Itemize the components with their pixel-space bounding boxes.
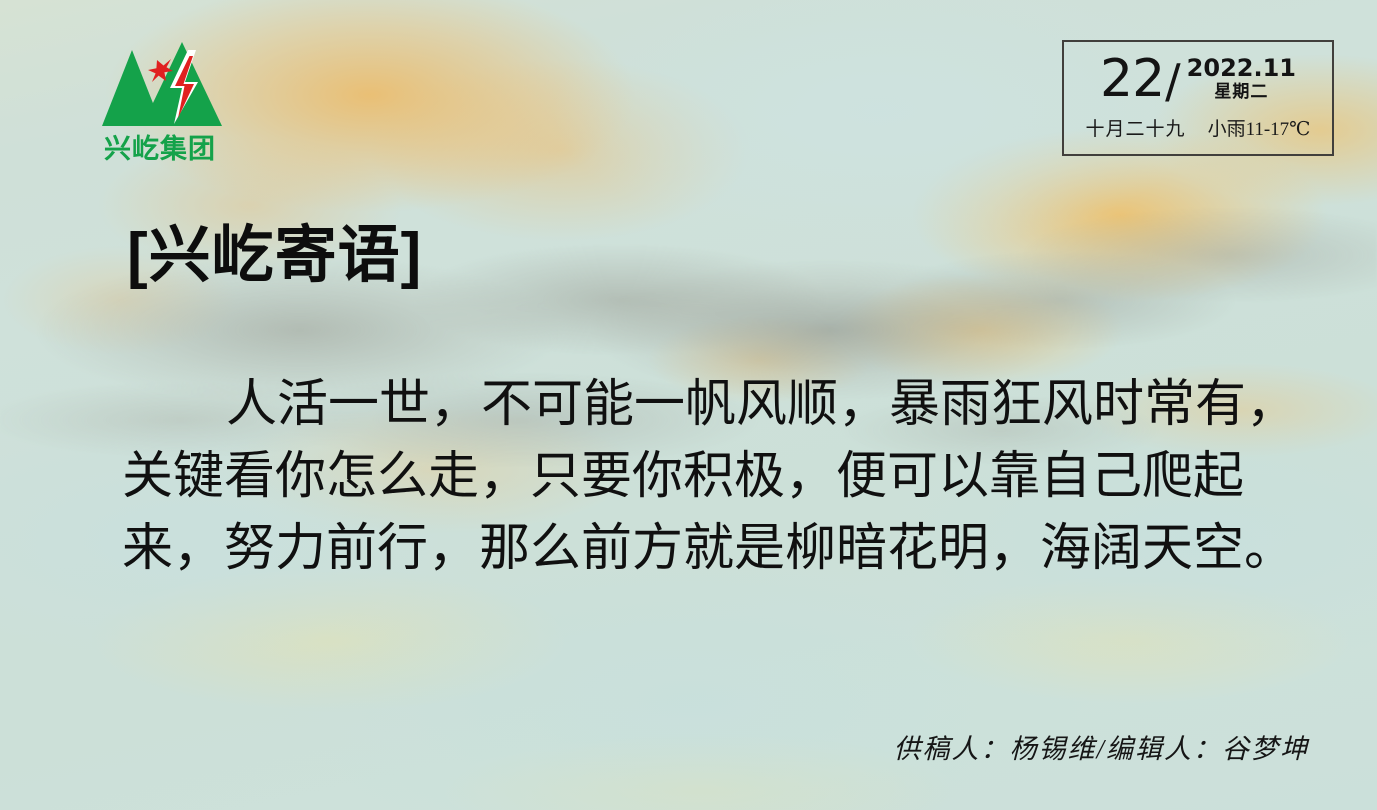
logo-wordmark: 兴屹集团 — [96, 135, 224, 163]
year-month: 2022.11 — [1187, 56, 1296, 81]
company-logo: 兴屹集团 — [96, 36, 224, 166]
date-card-top-row: 22 / 2022.11 星期二 — [1074, 48, 1322, 110]
date-card-right-stack: 2022.11 星期二 — [1187, 56, 1296, 102]
body-paragraph: 人活一世，不可能一帆风顺，暴雨狂风时常有， 关键看你怎么走，只要你积极，便可以靠… — [122, 368, 1282, 584]
body-line: 来，努力前行，那么前方就是柳暗花明，海阔天空。 — [122, 512, 1282, 584]
body-line: 关键看你怎么走，只要你积极，便可以靠自己爬起 — [122, 440, 1282, 512]
lunar-date: 十月二十九 — [1086, 114, 1186, 141]
twin-mountain-lightning-icon — [96, 36, 224, 134]
body-line: 人活一世，不可能一帆风顺，暴雨狂风时常有， — [122, 368, 1282, 440]
weather-summary: 小雨11-17℃ — [1208, 114, 1311, 141]
day-slash-separator: / — [1165, 58, 1181, 104]
weekday: 星期二 — [1187, 81, 1296, 102]
credits-line: 供稿人：杨锡维/编辑人：谷梦坤 — [893, 727, 1309, 766]
day-number: 22 — [1100, 53, 1164, 105]
date-card: 22 / 2022.11 星期二 十月二十九 小雨11-17℃ — [1062, 40, 1334, 156]
page-title: [兴屹寄语] — [127, 222, 422, 290]
date-card-bottom-row: 十月二十九 小雨11-17℃ — [1074, 114, 1322, 141]
poster-canvas: 兴屹集团 22 / 2022.11 星期二 十月二十九 小雨11-17℃ [兴屹… — [0, 0, 1377, 810]
